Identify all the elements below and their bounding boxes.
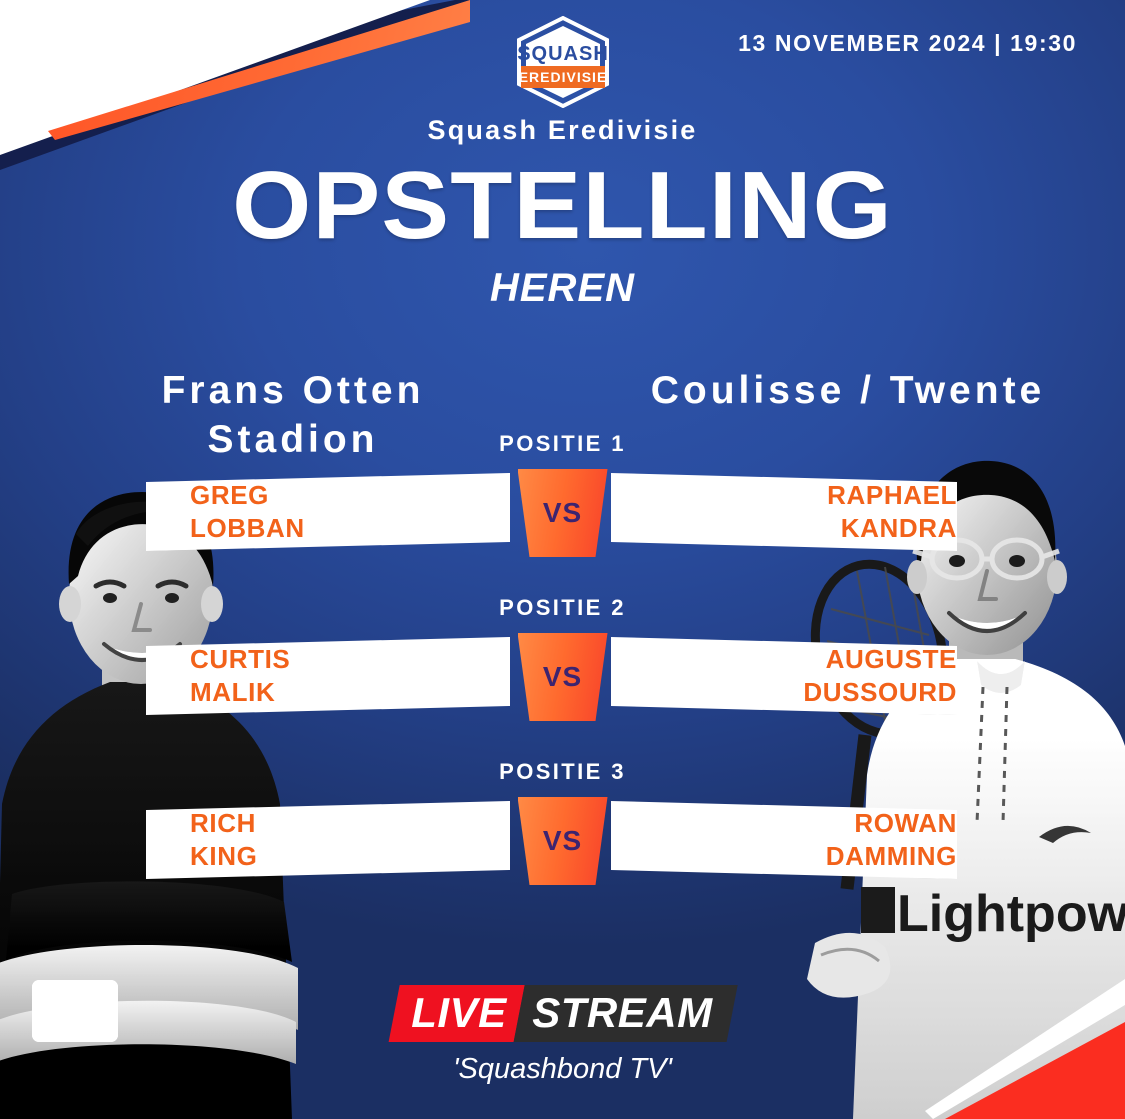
livestream-badge: LIVE STREAM [394, 985, 732, 1042]
away-player-firstname: AUGUSTE [826, 643, 957, 676]
home-player-lastname: KING [190, 840, 257, 873]
home-player-panel: RICH KING [146, 801, 554, 879]
logo-top-text: SQUASH [517, 43, 609, 65]
vs-label: VS [543, 497, 582, 529]
match-date-time: 13 NOVEMBER 2024 | 19:30 [738, 30, 1077, 57]
away-player-firstname: ROWAN [854, 807, 957, 840]
away-player-panel: RAPHAEL KANDRA [611, 473, 979, 551]
category-subtitle: HEREN [0, 266, 1125, 311]
stream-label: STREAM [532, 992, 712, 1034]
away-player-lastname: DUSSOURD [803, 676, 957, 709]
away-player-lastname: KANDRA [841, 512, 957, 545]
away-player-panel: AUGUSTE DUSSOURD [611, 637, 979, 715]
home-player-firstname: CURTIS [190, 643, 290, 676]
vs-badge: VS [518, 797, 608, 885]
home-player-lastname: MALIK [190, 676, 275, 709]
matchups-list: POSITIE 1 GREG LOBBAN VS RAPHAEL KANDRA … [0, 425, 1125, 917]
position-label: POSITIE 1 [0, 431, 1125, 457]
home-player-firstname: RICH [190, 807, 256, 840]
vs-label: VS [543, 825, 582, 857]
matchup-row: POSITIE 3 RICH KING VS ROWAN DAMMING [0, 753, 1125, 917]
squash-eredivisie-badge-icon: SQUASH EREDIVISIE [515, 16, 611, 108]
vs-label: VS [543, 661, 582, 693]
home-player-panel: CURTIS MALIK [146, 637, 554, 715]
away-player-lastname: DAMMING [826, 840, 957, 873]
vs-badge: VS [518, 633, 608, 721]
page-title: OPSTELLING [0, 158, 1125, 254]
matchup-row: POSITIE 1 GREG LOBBAN VS RAPHAEL KANDRA [0, 425, 1125, 589]
live-badge: LIVE [388, 985, 524, 1042]
away-player-firstname: RAPHAEL [827, 479, 957, 512]
home-player-panel: GREG LOBBAN [146, 473, 554, 551]
home-player-lastname: LOBBAN [190, 512, 305, 545]
position-label: POSITIE 3 [0, 759, 1125, 785]
live-label: LIVE [411, 992, 506, 1034]
matchup-row: POSITIE 2 CURTIS MALIK VS AUGUSTE DUSSOU… [0, 589, 1125, 753]
logo-bottom-text: EREDIVISIE [518, 69, 607, 85]
vs-badge: VS [518, 469, 608, 557]
stream-badge: STREAM [513, 985, 736, 1042]
league-name: Squash Eredivisie [0, 115, 1125, 146]
away-player-panel: ROWAN DAMMING [611, 801, 979, 879]
lineup-poster: Lightpow SQUASH EREDIVISIE [0, 0, 1125, 1119]
broadcast-channel: 'Squashbond TV' [0, 1053, 1125, 1086]
home-player-firstname: GREG [190, 479, 269, 512]
position-label: POSITIE 2 [0, 595, 1125, 621]
